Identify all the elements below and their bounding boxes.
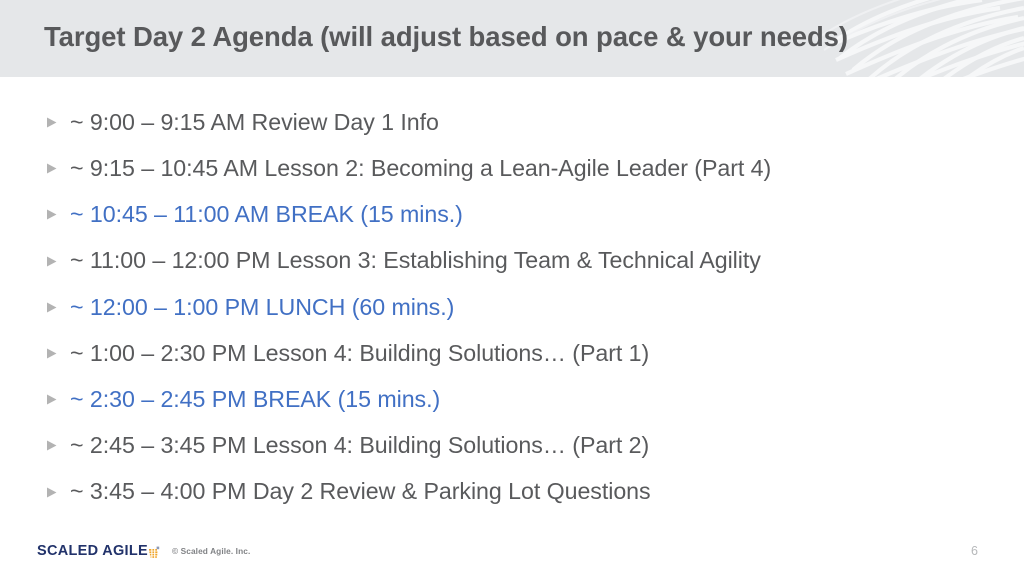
list-item: ~ 1:00 – 2:30 PM Lesson 4: Building Solu… <box>44 330 994 376</box>
triangle-right-icon <box>44 345 70 361</box>
slide-footer: SCALED AGILE © Scaled Agile. Inc. 6 <box>0 536 1024 576</box>
agenda-item-text: ~ 3:45 – 4:00 PM Day 2 Review & Parking … <box>70 478 651 505</box>
triangle-right-icon <box>44 391 70 407</box>
list-item: ~ 2:30 – 2:45 PM BREAK (15 mins.) <box>44 376 994 422</box>
page-title: Target Day 2 Agenda (will adjust based o… <box>44 21 848 53</box>
agenda-item-text: ~ 12:00 – 1:00 PM LUNCH (60 mins.) <box>70 294 454 321</box>
agenda-item-text: ~ 11:00 – 12:00 PM Lesson 3: Establishin… <box>70 247 761 274</box>
logo-wordmark: SCALED AGILE <box>37 544 148 559</box>
list-item: ~ 10:45 – 11:00 AM BREAK (15 mins.) <box>44 191 994 237</box>
agenda-item-text: ~ 1:00 – 2:30 PM Lesson 4: Building Solu… <box>70 340 649 367</box>
list-item: ~ 11:00 – 12:00 PM Lesson 3: Establishin… <box>44 238 994 284</box>
list-item: ~ 9:15 – 10:45 AM Lesson 2: Becoming a L… <box>44 145 994 191</box>
agenda-item-text: ~ 2:45 – 3:45 PM Lesson 4: Building Solu… <box>70 432 649 459</box>
triangle-right-icon <box>44 484 70 500</box>
agenda-item-text: ~ 9:15 – 10:45 AM Lesson 2: Becoming a L… <box>70 155 771 182</box>
triangle-right-icon <box>44 253 70 269</box>
agenda-list: ~ 9:00 – 9:15 AM Review Day 1 Info ~ 9:1… <box>44 99 994 515</box>
checkered-square-logo-icon <box>149 546 160 559</box>
triangle-right-icon <box>44 160 70 176</box>
scaled-agile-logo: SCALED AGILE <box>37 544 160 559</box>
list-item: ~ 9:00 – 9:15 AM Review Day 1 Info <box>44 99 994 145</box>
page-number: 6 <box>971 545 978 558</box>
list-item: ~ 2:45 – 3:45 PM Lesson 4: Building Solu… <box>44 422 994 468</box>
list-item: ~ 12:00 – 1:00 PM LUNCH (60 mins.) <box>44 284 994 330</box>
triangle-right-icon <box>44 437 70 453</box>
slide-header: Target Day 2 Agenda (will adjust based o… <box>0 0 1024 77</box>
list-item: ~ 3:45 – 4:00 PM Day 2 Review & Parking … <box>44 469 994 515</box>
agenda-item-text: ~ 2:30 – 2:45 PM BREAK (15 mins.) <box>70 386 440 413</box>
triangle-right-icon <box>44 206 70 222</box>
agenda-item-text: ~ 9:00 – 9:15 AM Review Day 1 Info <box>70 109 439 136</box>
slide: Target Day 2 Agenda (will adjust based o… <box>0 0 1024 576</box>
agenda-item-text: ~ 10:45 – 11:00 AM BREAK (15 mins.) <box>70 201 463 228</box>
copyright-text: © Scaled Agile. Inc. <box>172 547 250 555</box>
triangle-right-icon <box>44 299 70 315</box>
triangle-right-icon <box>44 114 70 130</box>
